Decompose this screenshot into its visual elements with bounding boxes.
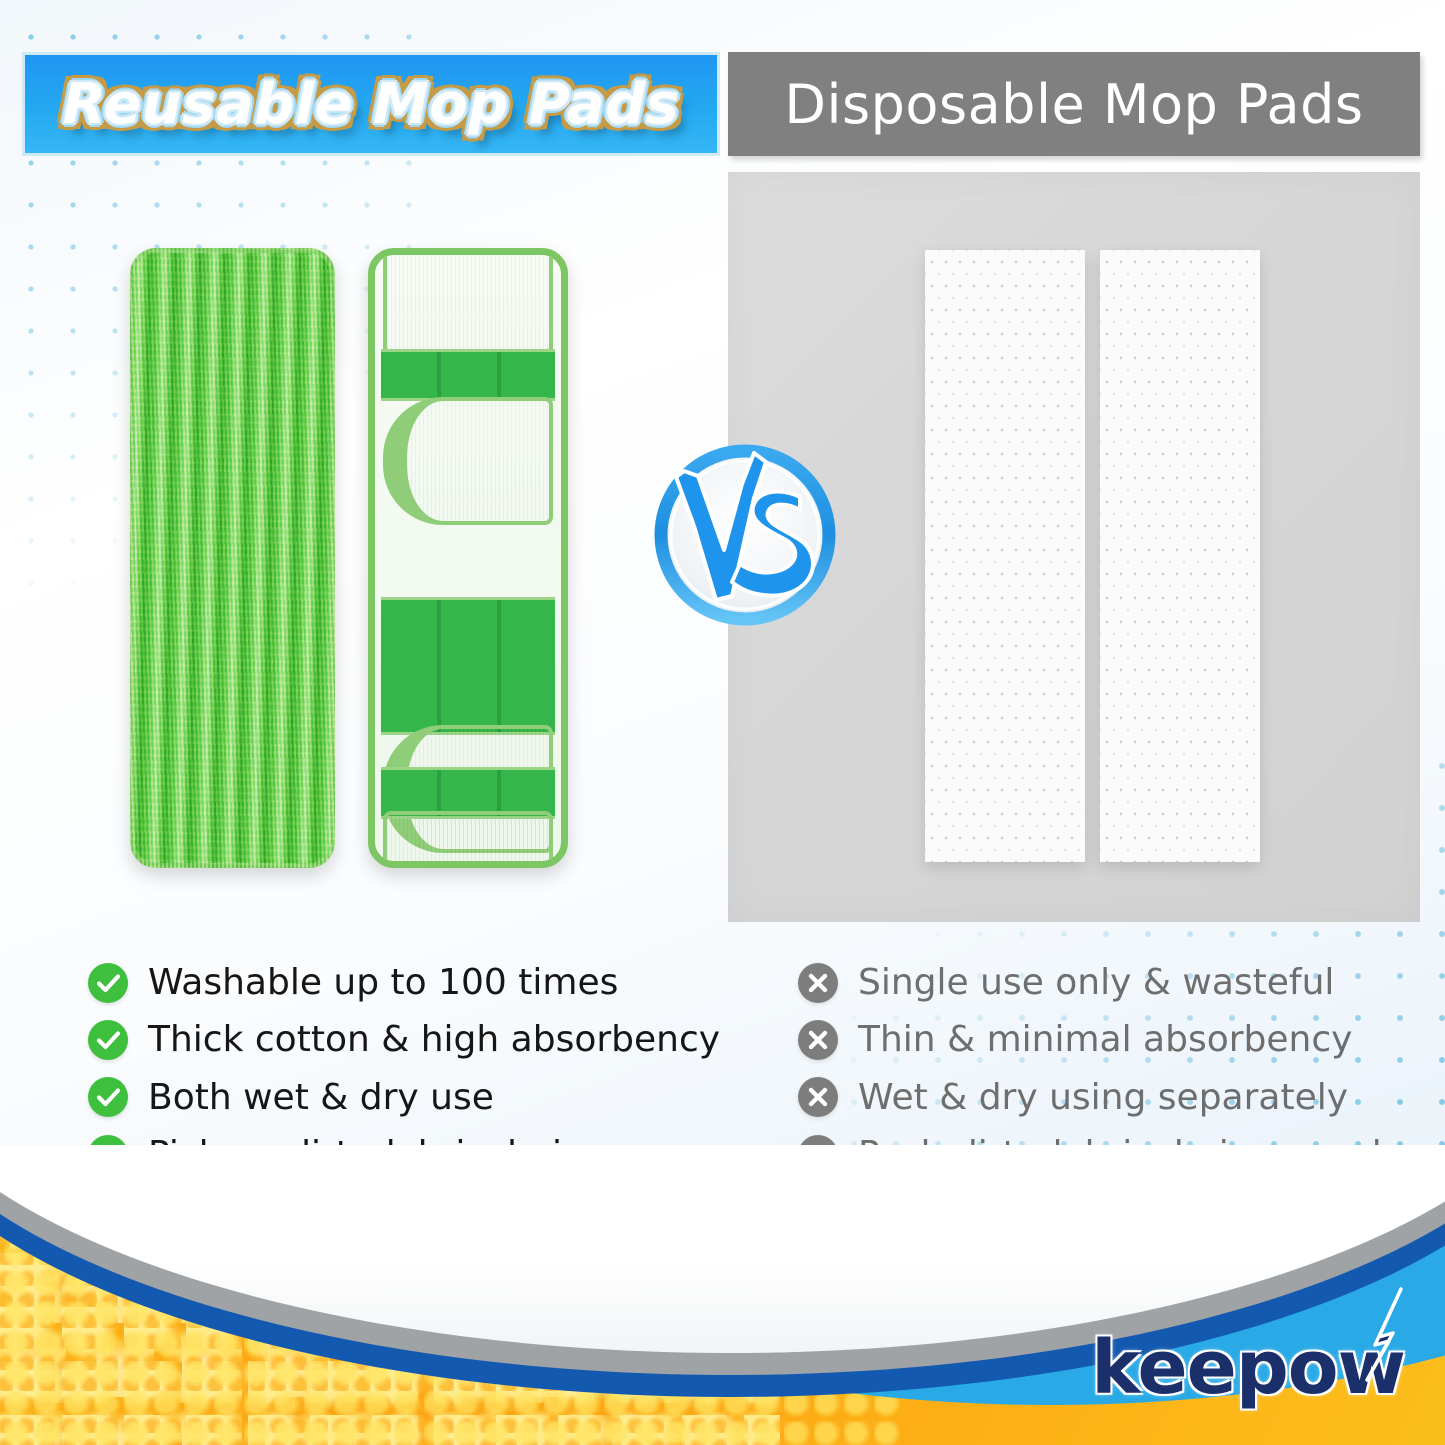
feature-label: Thick cotton & high absorbency bbox=[148, 1019, 720, 1060]
check-circle-icon bbox=[88, 1020, 128, 1060]
lightning-bolt-icon bbox=[1345, 1287, 1415, 1387]
feature-item: Wet & dry using separately bbox=[798, 1077, 1418, 1118]
pad-velcro-strip-middle bbox=[381, 597, 555, 735]
reusable-pad-front-image bbox=[130, 248, 335, 868]
disposable-pad-image-1 bbox=[925, 250, 1085, 862]
x-circle-icon bbox=[798, 1020, 838, 1060]
x-circle-icon bbox=[798, 1077, 838, 1117]
pad-velcro-strip-top bbox=[381, 349, 555, 401]
feature-label: Washable up to 100 times bbox=[148, 962, 618, 1003]
check-circle-icon bbox=[88, 1077, 128, 1117]
feature-item: Both wet & dry use bbox=[88, 1077, 748, 1118]
feature-item: Washable up to 100 times bbox=[88, 962, 748, 1003]
pad-pocket-top bbox=[383, 249, 553, 355]
pad-pocket-bottom bbox=[383, 811, 553, 868]
reusable-header-title: Reusable Mop Pads bbox=[62, 72, 679, 137]
feature-item: Thin & minimal absorbency bbox=[798, 1019, 1418, 1060]
disposable-header-title: Disposable Mop Pads bbox=[784, 73, 1363, 136]
reusable-pad-back-image bbox=[368, 248, 568, 868]
disposable-pad-image-2 bbox=[1100, 250, 1260, 862]
feature-item: Single use only & wasteful bbox=[798, 962, 1418, 1003]
reusable-header-banner: Reusable Mop Pads bbox=[22, 52, 720, 156]
feature-label: Single use only & wasteful bbox=[858, 962, 1334, 1003]
feature-label: Wet & dry using separately bbox=[858, 1077, 1348, 1118]
feature-label: Both wet & dry use bbox=[148, 1077, 494, 1118]
feature-label: Thin & minimal absorbency bbox=[858, 1019, 1352, 1060]
disposable-header-banner: Disposable Mop Pads bbox=[728, 52, 1420, 156]
feature-item: Thick cotton & high absorbency bbox=[88, 1019, 748, 1060]
check-circle-icon bbox=[88, 963, 128, 1003]
brand-footer: keepow bbox=[0, 1145, 1445, 1445]
x-circle-icon bbox=[798, 963, 838, 1003]
pad-pocket-upper bbox=[383, 397, 553, 525]
infographic-canvas: Reusable Mop Pads Disposable Mop Pads bbox=[0, 0, 1445, 1445]
vs-badge bbox=[650, 440, 840, 630]
